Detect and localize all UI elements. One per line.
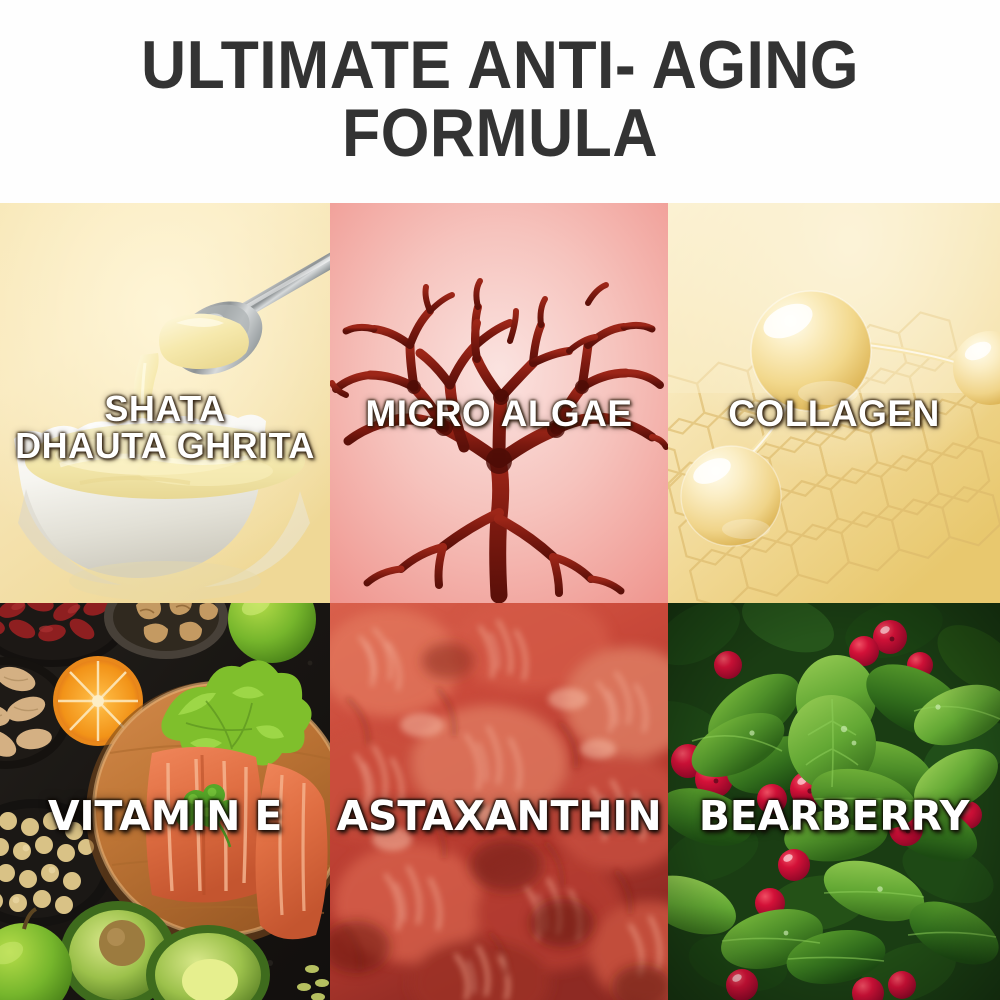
ingredient-label-astaxanthin: ASTAXANTHIN [330, 796, 668, 838]
ingredient-label-shata-dhauta-ghrita: SHATA DHAUTA GHRITA [0, 391, 330, 464]
ingredient-cell-shata-dhauta-ghrita[interactable]: SHATA DHAUTA GHRITA [0, 203, 330, 603]
ingredient-label-micro-algae: MICRO ALGAE [330, 395, 668, 433]
ingredient-cell-collagen[interactable]: COLLAGEN [668, 203, 1000, 603]
ingredient-cell-astaxanthin[interactable]: ASTAXANTHIN [330, 603, 668, 1000]
poster-root: ULTIMATE ANTI- AGING FORMULA [0, 0, 1000, 1000]
page-title: ULTIMATE ANTI- AGING FORMULA [86, 32, 914, 171]
header-bar: ULTIMATE ANTI- AGING FORMULA [0, 0, 1000, 203]
ingredient-label-collagen: COLLAGEN [668, 395, 1000, 433]
ingredient-cell-bearberry[interactable]: BEARBERRY [668, 603, 1000, 1000]
ingredient-label-bearberry: BEARBERRY [668, 796, 1000, 838]
ingredient-cell-vitamin-e[interactable]: VITAMIN E [0, 603, 330, 1000]
ingredient-label-vitamin-e: VITAMIN E [0, 796, 330, 838]
ingredient-cell-micro-algae[interactable]: MICRO ALGAE [330, 203, 668, 603]
ingredient-grid: SHATA DHAUTA GHRITA [0, 203, 1000, 1000]
